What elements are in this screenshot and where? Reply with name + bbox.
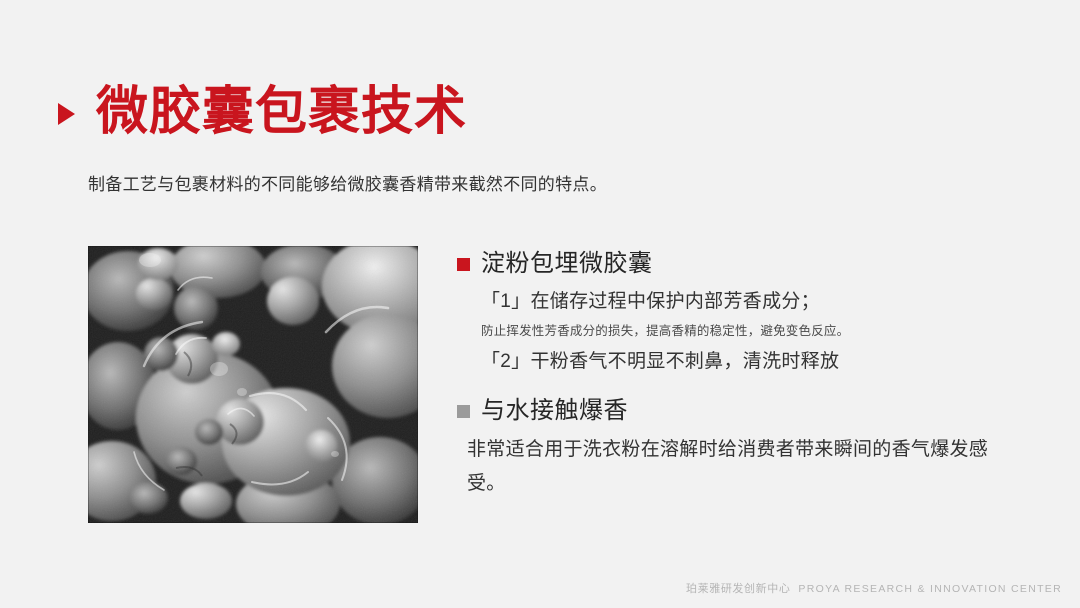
section-1-item-2: 「2」干粉香气不明显不刺鼻，清洗时释放 (481, 349, 1037, 376)
footer-cn-text: 珀莱雅研发创新中心 (686, 580, 790, 596)
footer: 珀莱雅研发创新中心 PROYA RESEARCH & INNOVATION CE… (686, 580, 1062, 596)
section-2-heading: 与水接触爆香 (457, 395, 1037, 427)
footer-en-text: PROYA RESEARCH & INNOVATION CENTER (798, 583, 1062, 595)
section-1-heading-text: 淀粉包埋微胶囊 (481, 248, 653, 280)
title-text: 微胶囊包裹技术 (96, 86, 467, 138)
section-1-note: 防止挥发性芳香成分的损失，提高香精的稳定性，避免变色反应。 (481, 323, 1037, 341)
section-1-heading: 淀粉包埋微胶囊 (457, 248, 1037, 280)
subtitle-text: 制备工艺与包裹材料的不同能够给微胶囊香精带来截然不同的特点。 (88, 170, 607, 195)
square-bullet-icon (457, 405, 470, 418)
slide-canvas: 微胶囊包裹技术 制备工艺与包裹材料的不同能够给微胶囊香精带来截然不同的特点。 (0, 0, 1080, 608)
square-bullet-icon (457, 258, 470, 271)
play-triangle-icon (58, 103, 75, 125)
section-2-body: 非常适合用于洗衣粉在溶解时给消费者带来瞬间的香气爆发感受。 (467, 433, 1007, 500)
content-column: 淀粉包埋微胶囊 「1」在储存过程中保护内部芳香成分； 防止挥发性芳香成分的损失，… (457, 248, 1037, 500)
sem-micrograph-image (88, 246, 418, 523)
micrograph-graphic (88, 246, 418, 523)
page-title: 微胶囊包裹技术 (58, 86, 467, 138)
section-2-heading-text: 与水接触爆香 (481, 395, 628, 427)
section-1-item-1: 「1」在储存过程中保护内部芳香成分； (481, 289, 1037, 316)
